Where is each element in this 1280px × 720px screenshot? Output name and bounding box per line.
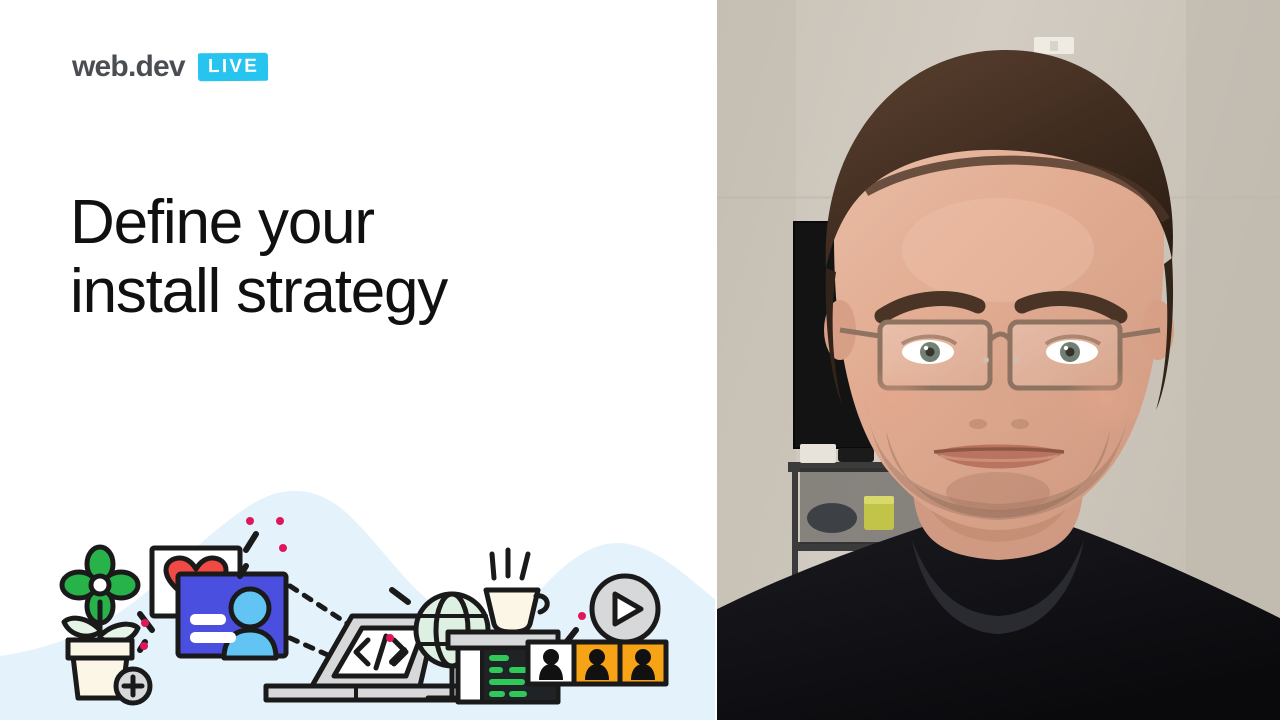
potted-plant-add-icon: [62, 547, 150, 703]
presentation-slide: web.dev LIVE Define your install strateg…: [0, 0, 716, 720]
webdev-live-logo: web.dev LIVE: [72, 52, 268, 82]
profile-card-icon: [178, 574, 286, 658]
doodle-illustration: [0, 490, 716, 720]
panel-divider: [715, 0, 717, 720]
live-badge: LIVE: [198, 53, 268, 81]
slide-title-line-1: Define your: [70, 188, 630, 257]
speaker-webcam-feed: [716, 0, 1280, 720]
play-button-icon: [592, 576, 658, 642]
shelf-speaker: [807, 503, 857, 533]
slide-title: Define your install strategy: [70, 188, 630, 327]
people-tiles-icon: [528, 642, 666, 684]
coffee-cup-icon: [486, 550, 547, 632]
slide-title-line-2: install strategy: [70, 257, 630, 326]
webdev-wordmark: web.dev: [72, 52, 185, 82]
slide-with-webcam-composite: web.dev LIVE Define your install strateg…: [0, 0, 1280, 720]
shelf-white-box: [800, 444, 836, 463]
webcam-frame: [716, 0, 1280, 720]
